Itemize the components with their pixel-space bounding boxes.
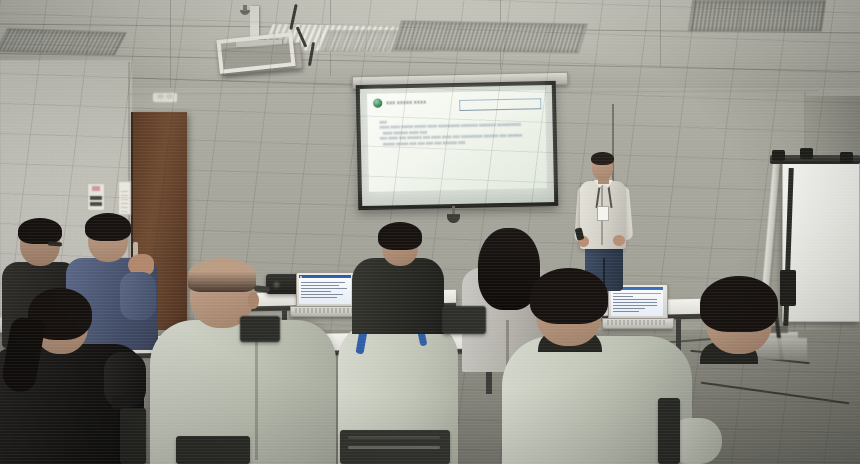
attendee-hair: [18, 218, 62, 244]
window-titlebar: [299, 275, 351, 278]
attendee-hair: [85, 213, 131, 241]
chair[interactable]: [176, 436, 250, 464]
chair-rail: [348, 436, 440, 439]
chair[interactable]: [658, 398, 680, 464]
attendee-torso: [352, 258, 444, 334]
presenter-hand-right: [613, 235, 625, 246]
attendee-arm: [120, 272, 156, 320]
laptop-keyboard[interactable]: [295, 308, 353, 313]
laptop-keyboard[interactable]: [607, 320, 665, 325]
attendee-ear: [248, 292, 259, 309]
chair[interactable]: [120, 408, 146, 464]
laptop-screen: [299, 275, 351, 304]
flipchart-clip[interactable]: [800, 148, 813, 159]
flipchart-clip[interactable]: [772, 150, 785, 161]
attendee-hair: [378, 222, 422, 250]
chair-rail: [348, 446, 440, 449]
flipchart-tray: [780, 270, 796, 306]
flipchart-clip[interactable]: [840, 152, 853, 163]
chair[interactable]: [442, 306, 486, 334]
attendee-hair: [700, 276, 778, 332]
attendee-hair: [530, 268, 608, 324]
laptop-screen: [611, 287, 663, 316]
attendee-hair: [188, 258, 256, 292]
chair[interactable]: [240, 316, 280, 342]
presenter-hair: [591, 152, 614, 165]
projector-lens: [272, 280, 281, 289]
shirt-seam: [255, 330, 258, 460]
id-badge: [597, 206, 609, 221]
training-room-photo: XXX XXXXX XXXX XXX XXXX XXXX XXXXX XXXXX…: [0, 0, 860, 464]
